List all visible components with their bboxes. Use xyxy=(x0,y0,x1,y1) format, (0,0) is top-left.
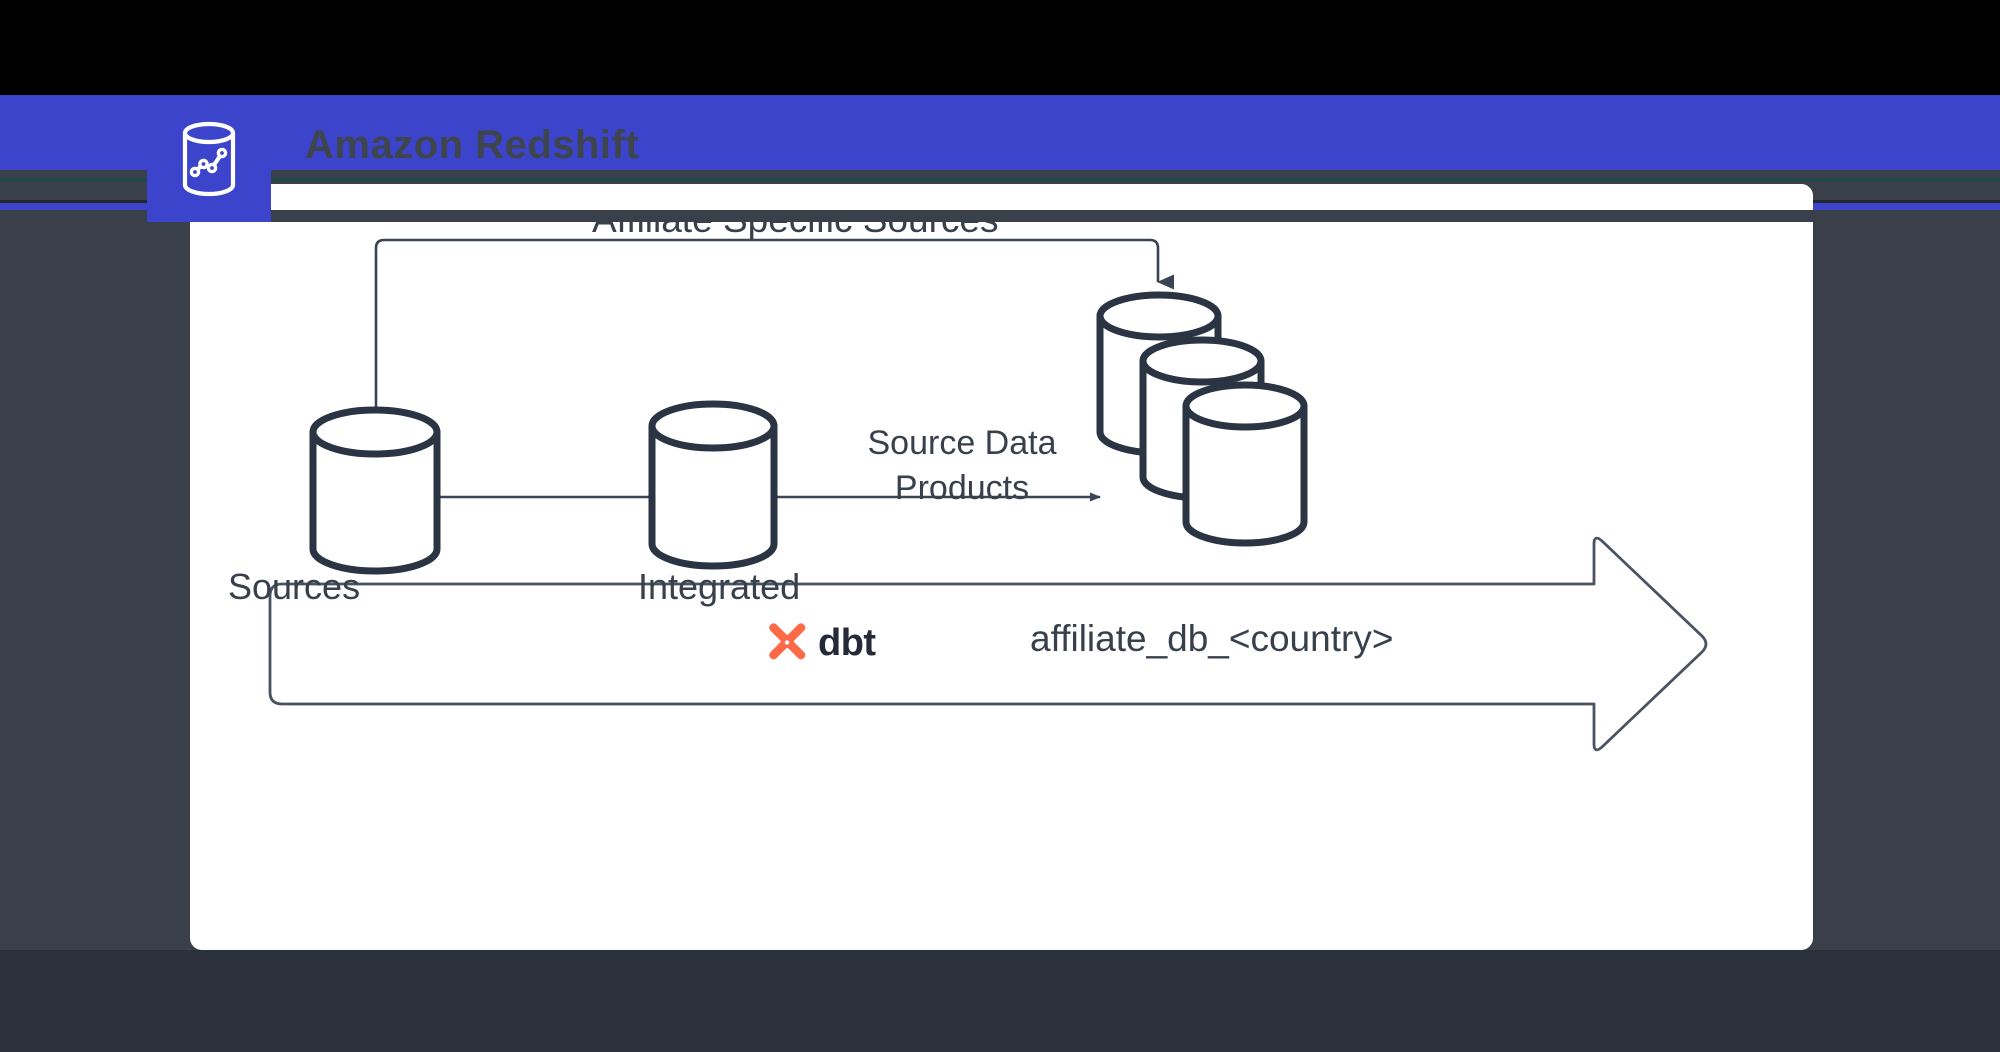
dbt-process-arrow-shape xyxy=(270,538,1706,750)
dbt-logo-text: dbt xyxy=(818,622,876,665)
diagram-canvas xyxy=(190,184,1813,950)
node-sources-cylinder xyxy=(313,410,437,571)
edge-label-products: Products xyxy=(832,469,1092,508)
dbt-x-mark-icon xyxy=(764,621,808,665)
header-blue-band xyxy=(0,95,2000,170)
footer-background xyxy=(0,950,2000,1052)
node-affiliate-cylinder-stack xyxy=(1100,295,1304,543)
diagram-card: Sources Integrated affiliate_db_<country… xyxy=(190,184,1813,950)
title-clip-left-fill xyxy=(0,210,147,222)
page-title: Amazon Redshift xyxy=(305,120,639,170)
title-clip-hairline-teal xyxy=(0,178,2000,181)
node-label-integrated: Integrated xyxy=(638,566,800,608)
card-top-overlay xyxy=(190,184,1813,210)
node-label-affiliate-db: affiliate_db_<country> xyxy=(1030,618,1393,660)
title-clip-band-upper xyxy=(0,170,2000,178)
top-black-bar xyxy=(0,0,2000,95)
edge-label-source-data: Source Data xyxy=(832,424,1092,463)
redshift-database-chart-icon-overlay xyxy=(178,119,240,199)
node-integrated-cylinder xyxy=(652,404,774,566)
redshift-icon-overlay-wrap xyxy=(147,95,271,222)
dbt-logo: dbt xyxy=(764,621,876,665)
title-clip-right-fill xyxy=(271,210,2000,222)
edge-affiliate-specific xyxy=(376,240,1158,412)
node-label-sources: Sources xyxy=(228,566,360,608)
screenshot-root: Sources Integrated affiliate_db_<country… xyxy=(0,0,2000,1052)
